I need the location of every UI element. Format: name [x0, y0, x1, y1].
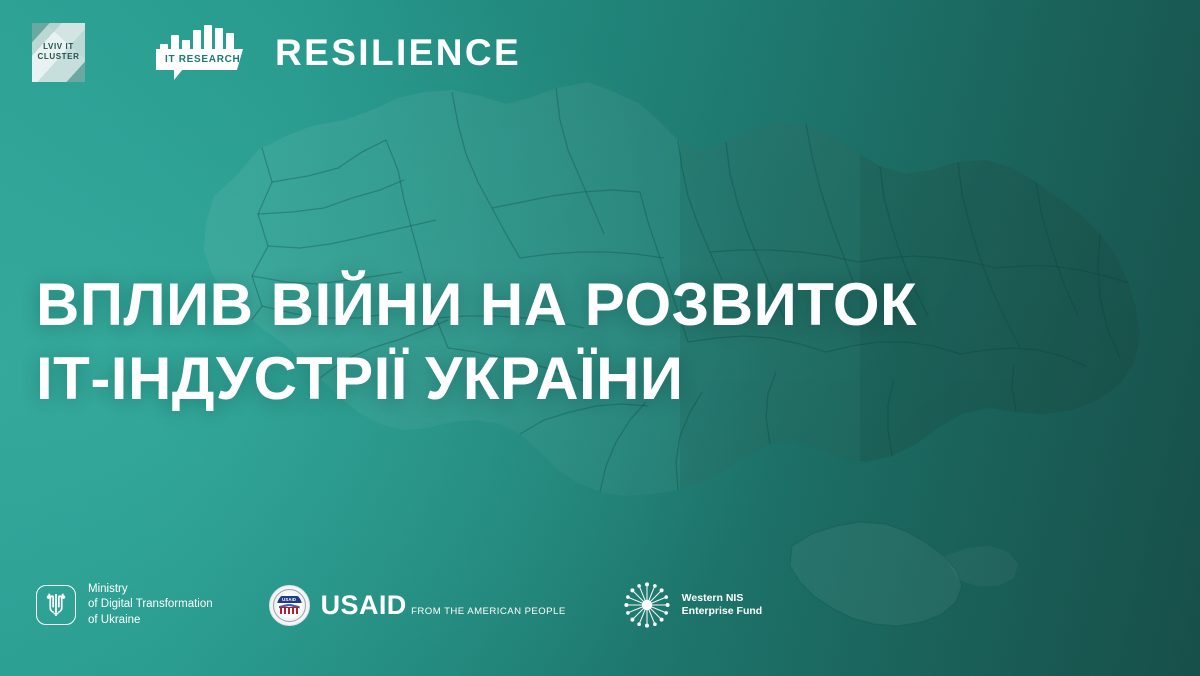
- ukraine-trident-icon: [46, 592, 66, 618]
- western-nis-name: Western NIS Enterprise Fund: [682, 592, 763, 619]
- partner-logo-western-nis-enterprise-fund[interactable]: Western NIS Enterprise Fund: [622, 580, 763, 630]
- lviv-it-cluster-logo[interactable]: LVIV IT CLUSTER: [32, 23, 85, 82]
- dandelion-starburst-icon: [622, 580, 672, 630]
- usaid-tagline: FROM THE AMERICAN PEOPLE: [411, 606, 566, 617]
- partner-logo-ministry-of-digital-transformation[interactable]: Ministry of Digital Transformation of Uk…: [36, 582, 213, 629]
- page-title: ВПЛИВ ВІЙНИ НА РОЗВИТОК ІТ-ІНДУСТРІЇ УКР…: [36, 268, 917, 416]
- it-research-bubble: IT RESEARCH: [156, 49, 243, 70]
- ministry-line-2: of Digital Transformation: [88, 598, 213, 610]
- lviv-logo-line-2: CLUSTER: [38, 52, 80, 61]
- partner-logos: Ministry of Digital Transformation of Uk…: [36, 580, 762, 630]
- usaid-seal-label: USAID: [277, 596, 302, 603]
- partner-logo-usaid[interactable]: USAID USAID FROM THE AMERICAN PEOPLE: [269, 585, 566, 626]
- usaid-wordmark: USAID: [321, 590, 407, 620]
- it-research-logo[interactable]: IT RESEARCH: [156, 23, 243, 81]
- ministry-badge: [36, 585, 76, 625]
- usaid-seal-inner: USAID: [277, 593, 302, 618]
- ministry-line-1: Ministry: [88, 583, 128, 595]
- it-research-bubble-tail: [174, 69, 188, 80]
- western-nis-line-1: Western NIS: [682, 592, 744, 604]
- usaid-seal-blue-bar: USAID: [277, 596, 302, 603]
- usaid-text-block: USAID FROM THE AMERICAN PEOPLE: [321, 591, 566, 619]
- ministry-name: Ministry of Digital Transformation of Uk…: [88, 582, 213, 629]
- usaid-seal-red-bar: [280, 607, 299, 614]
- lviv-logo-line-1: LVIV IT: [43, 42, 74, 51]
- it-research-label: IT RESEARCH: [165, 54, 240, 65]
- program-name: RESILIENCE: [275, 34, 521, 71]
- lviv-logo-text: LVIV IT CLUSTER: [32, 42, 85, 62]
- page-title-line-2: ІТ-ІНДУСТРІЇ УКРАЇНИ: [36, 342, 917, 416]
- ministry-line-3: of Ukraine: [88, 614, 140, 626]
- usaid-seal-icon: USAID: [269, 585, 310, 626]
- page-title-line-1: ВПЛИВ ВІЙНИ НА РОЗВИТОК: [36, 268, 917, 342]
- header-logos: LVIV IT CLUSTER IT RESEARCH RESILIENCE: [32, 22, 521, 82]
- western-nis-line-2: Enterprise Fund: [682, 605, 763, 617]
- slide-cover: LVIV IT CLUSTER IT RESEARCH RESILIENCE В…: [0, 0, 1200, 676]
